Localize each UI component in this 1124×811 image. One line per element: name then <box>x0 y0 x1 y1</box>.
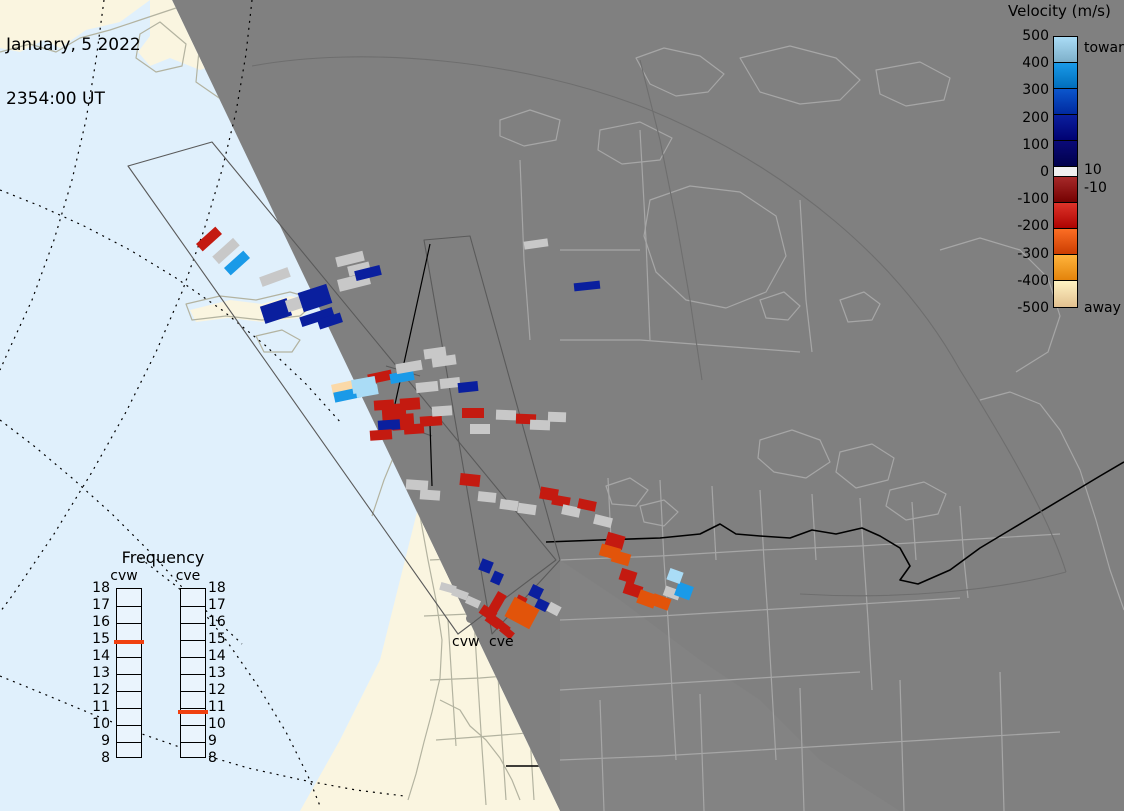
velocity-cell <box>196 227 222 252</box>
frequency-tick-label: 16 <box>208 614 230 630</box>
colorbar-title: Velocity (m/s) <box>1008 2 1124 20</box>
colorbar-tick-label: -200 <box>1006 218 1049 234</box>
frequency-tick-label: 18 <box>88 580 110 596</box>
frequency-marker-cve <box>178 710 208 714</box>
frequency-tick-label: 17 <box>208 597 230 613</box>
frequency-segment <box>117 606 141 607</box>
colorbar-gradient <box>1053 36 1078 308</box>
velocity-cell <box>400 397 421 410</box>
colorbar-segment <box>1054 115 1077 141</box>
frequency-bar-cvw <box>116 588 142 758</box>
frequency-bar-cve <box>180 588 206 758</box>
frequency-tick-label: 11 <box>88 699 110 715</box>
frequency-tick-label: 13 <box>88 665 110 681</box>
site-label-cve: cve <box>489 634 514 650</box>
colorbar-tick-label: 500 <box>1006 28 1049 44</box>
colorbar-tick-label: 200 <box>1006 110 1049 126</box>
velocity-cell <box>459 473 480 487</box>
frequency-tick-label: 9 <box>88 733 110 749</box>
frequency-segment <box>117 623 141 624</box>
velocity-cell <box>593 514 613 528</box>
frequency-tick-label: 18 <box>208 580 230 596</box>
velocity-cell <box>499 499 518 511</box>
frequency-segment <box>181 691 205 692</box>
velocity-cell <box>478 491 497 503</box>
colorbar-away-label: away <box>1084 300 1121 316</box>
colorbar-tick-label: -300 <box>1006 246 1049 262</box>
velocity-cell <box>462 408 484 418</box>
velocity-cell <box>496 410 516 421</box>
colorbar-zero-lower-label: -10 <box>1084 180 1107 196</box>
velocity-cell <box>458 381 479 393</box>
velocity-cell <box>432 405 453 416</box>
velocity-cell <box>395 360 422 374</box>
velocity-cell <box>548 412 566 423</box>
frequency-tick-label: 8 <box>88 750 110 766</box>
velocity-cell <box>416 381 439 393</box>
velocity-cell <box>574 281 601 292</box>
frequency-segment <box>117 708 141 709</box>
frequency-segment <box>181 657 205 658</box>
velocity-cell <box>370 429 393 441</box>
frequency-tick-label: 8 <box>208 750 230 766</box>
frequency-tick-label: 15 <box>88 631 110 647</box>
frequency-tick-label: 12 <box>208 682 230 698</box>
colorbar-segment <box>1054 255 1077 281</box>
velocity-cell <box>431 354 456 367</box>
colorbar-tick-label: -400 <box>1006 273 1049 289</box>
colorbar-segment <box>1054 63 1077 89</box>
velocity-cell <box>259 267 291 287</box>
frequency-tick-label: 16 <box>88 614 110 630</box>
velocity-cell <box>490 570 504 585</box>
velocity-cell <box>478 558 494 574</box>
frequency-tick-label: 11 <box>208 699 230 715</box>
velocity-cell <box>524 238 549 249</box>
radar-site-dot <box>466 614 475 623</box>
timestamp-time: 2354:00 UT <box>6 90 141 108</box>
colorbar-tick-label: 100 <box>1006 137 1049 153</box>
frequency-legend: Frequency cvw18171615141312111098cve1817… <box>88 548 238 780</box>
frequency-segment <box>117 691 141 692</box>
frequency-column-cve: cve <box>168 568 208 584</box>
colorbar-tick-label: -100 <box>1006 191 1049 207</box>
colorbar-segment <box>1054 229 1077 255</box>
colorbar-zero-upper-label: 10 <box>1084 162 1102 178</box>
frequency-marker-cvw <box>114 640 144 644</box>
colorbar-segment <box>1054 281 1077 307</box>
timestamp: January, 5 2022 2354:00 UT <box>6 0 141 144</box>
colorbar-tick-label: -500 <box>1006 300 1049 316</box>
velocity-cell <box>528 584 544 600</box>
velocity-cell <box>611 550 632 566</box>
velocity-cell <box>420 415 443 427</box>
colorbar-segment <box>1054 37 1077 63</box>
frequency-tick-label: 12 <box>88 682 110 698</box>
velocity-cell <box>355 384 378 398</box>
colorbar-toward-label: toward <box>1084 40 1124 56</box>
frequency-tick-label: 10 <box>208 716 230 732</box>
colorbar-segment <box>1054 177 1077 203</box>
frequency-segment <box>181 742 205 743</box>
frequency-segment <box>117 657 141 658</box>
frequency-segment <box>117 742 141 743</box>
frequency-segment <box>181 708 205 709</box>
frequency-tick-label: 15 <box>208 631 230 647</box>
frequency-segment <box>181 606 205 607</box>
velocity-cell <box>439 582 457 594</box>
frequency-title: Frequency <box>88 548 238 567</box>
frequency-segment <box>181 623 205 624</box>
frequency-tick-label: 9 <box>208 733 230 749</box>
colorbar-segment <box>1054 141 1077 167</box>
velocity-cell <box>546 602 561 616</box>
frequency-tick-label: 14 <box>208 648 230 664</box>
velocity-cell <box>470 424 490 434</box>
colorbar-segment <box>1054 203 1077 229</box>
frequency-column-cvw: cvw <box>104 568 144 584</box>
colorbar-tick-label: 0 <box>1006 164 1049 180</box>
frequency-segment <box>181 674 205 675</box>
velocity-cell <box>517 503 536 515</box>
frequency-segment <box>181 725 205 726</box>
velocity-cell <box>465 595 481 608</box>
radar-map-figure: cvw cve January, 5 2022 2354:00 UT Veloc… <box>0 0 1124 811</box>
frequency-tick-label: 10 <box>88 716 110 732</box>
velocity-colorbar: Velocity (m/s) 5004003002001000-100-200-… <box>1006 0 1124 340</box>
colorbar-segment <box>1054 89 1077 115</box>
frequency-tick-label: 14 <box>88 648 110 664</box>
frequency-tick-label: 17 <box>88 597 110 613</box>
site-label-cvw: cvw <box>452 634 479 650</box>
timestamp-date: January, 5 2022 <box>6 36 141 54</box>
colorbar-tick-label: 400 <box>1006 55 1049 71</box>
velocity-cell <box>420 489 441 500</box>
colorbar-tick-label: 300 <box>1006 82 1049 98</box>
frequency-segment <box>117 674 141 675</box>
frequency-segment <box>181 640 205 641</box>
frequency-tick-label: 13 <box>208 665 230 681</box>
velocity-cell <box>504 597 539 630</box>
frequency-segment <box>117 725 141 726</box>
